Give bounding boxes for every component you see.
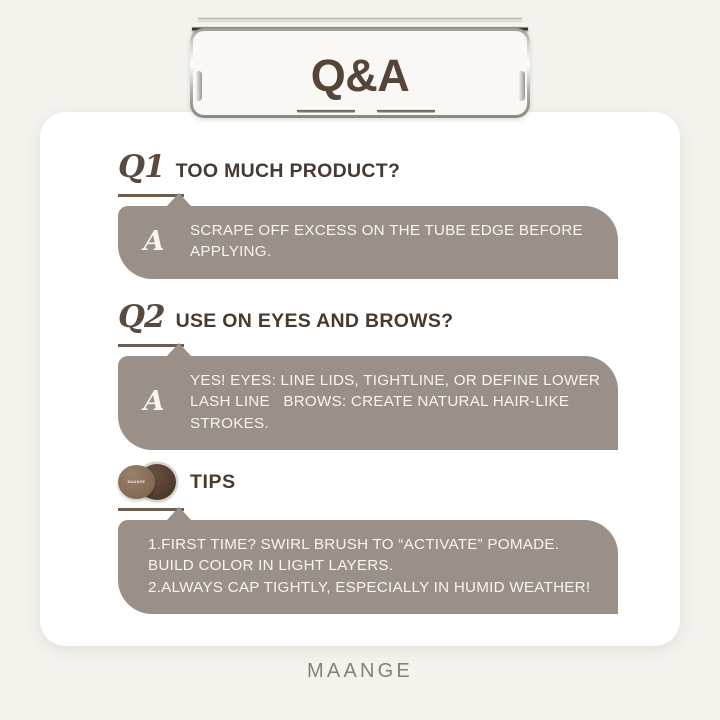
clipboard-clip-icon: Q&A	[190, 8, 530, 120]
clip-foot-left	[297, 108, 355, 113]
tips-text: 1.FIRST TIME? SWIRL BRUSH TO “ACTIVATE” …	[148, 534, 600, 599]
answer-marker-q2: A	[118, 388, 190, 415]
question-text-q1: TOO MUCH PRODUCT?	[176, 162, 401, 182]
faq-item-q1: Q1 TOO MUCH PRODUCT? A SCRAPE OFF EXCESS…	[118, 152, 618, 279]
answer-line: APPLYING.	[190, 241, 600, 263]
question-heading-q1: Q1 TOO MUCH PRODUCT?	[118, 152, 618, 188]
clip-foot-right	[377, 108, 435, 113]
tips-line: BUILD COLOR IN LIGHT LAYERS.	[148, 555, 600, 577]
question-number-q2: Q2	[118, 302, 165, 333]
answer-bubble-q2: A YES! EYES: LINE LIDS, TIGHTLINE, OR DE…	[118, 356, 618, 451]
faq-item-q2: Q2 USE ON EYES AND BROWS? A YES! EYES: L…	[118, 302, 618, 450]
tips-line: 1.FIRST TIME? SWIRL BRUSH TO “ACTIVATE” …	[148, 534, 600, 556]
bubble-tail-tips	[166, 507, 192, 521]
bubble-tail-q1	[166, 193, 192, 207]
tips-line: 2.ALWAYS CAP TIGHTLY, ESPECIALLY IN HUMI…	[148, 577, 600, 599]
pomade-jar-icon: MAANGE	[118, 463, 176, 501]
question-heading-q2: Q2 USE ON EYES AND BROWS?	[118, 302, 618, 338]
tips-section: MAANGE TIPS 1.FIRST TIME? SWIRL BRUSH TO…	[118, 462, 618, 614]
page-title: Q&A	[190, 50, 530, 102]
answer-line: STROKES.	[190, 413, 600, 435]
question-text-q2: USE ON EYES AND BROWS?	[176, 312, 454, 332]
answer-text-q1: SCRAPE OFF EXCESS ON THE TUBE EDGE BEFOR…	[190, 220, 600, 263]
jar-brand-label: MAANGE	[128, 480, 146, 484]
tips-label: TIPS	[190, 471, 236, 494]
jar-lid: MAANGE	[118, 465, 155, 499]
answer-bubble-q1: A SCRAPE OFF EXCESS ON THE TUBE EDGE BEF…	[118, 206, 618, 279]
answer-text-q2: YES! EYES: LINE LIDS, TIGHTLINE, OR DEFI…	[190, 370, 600, 435]
answer-line: LASH LINE BROWS: CREATE NATURAL HAIR-LIK…	[190, 391, 600, 413]
answer-line: YES! EYES: LINE LIDS, TIGHTLINE, OR DEFI…	[190, 370, 600, 392]
clip-top-bar	[198, 16, 522, 21]
brand-footer: MAANGE	[0, 660, 720, 683]
bubble-tail-q2	[166, 343, 192, 357]
question-number-q1: Q1	[118, 152, 165, 183]
answer-line: SCRAPE OFF EXCESS ON THE TUBE EDGE BEFOR…	[190, 220, 600, 242]
tips-bubble: 1.FIRST TIME? SWIRL BRUSH TO “ACTIVATE” …	[118, 520, 618, 615]
answer-marker-q1: A	[118, 228, 190, 255]
tips-heading: MAANGE TIPS	[118, 462, 618, 502]
